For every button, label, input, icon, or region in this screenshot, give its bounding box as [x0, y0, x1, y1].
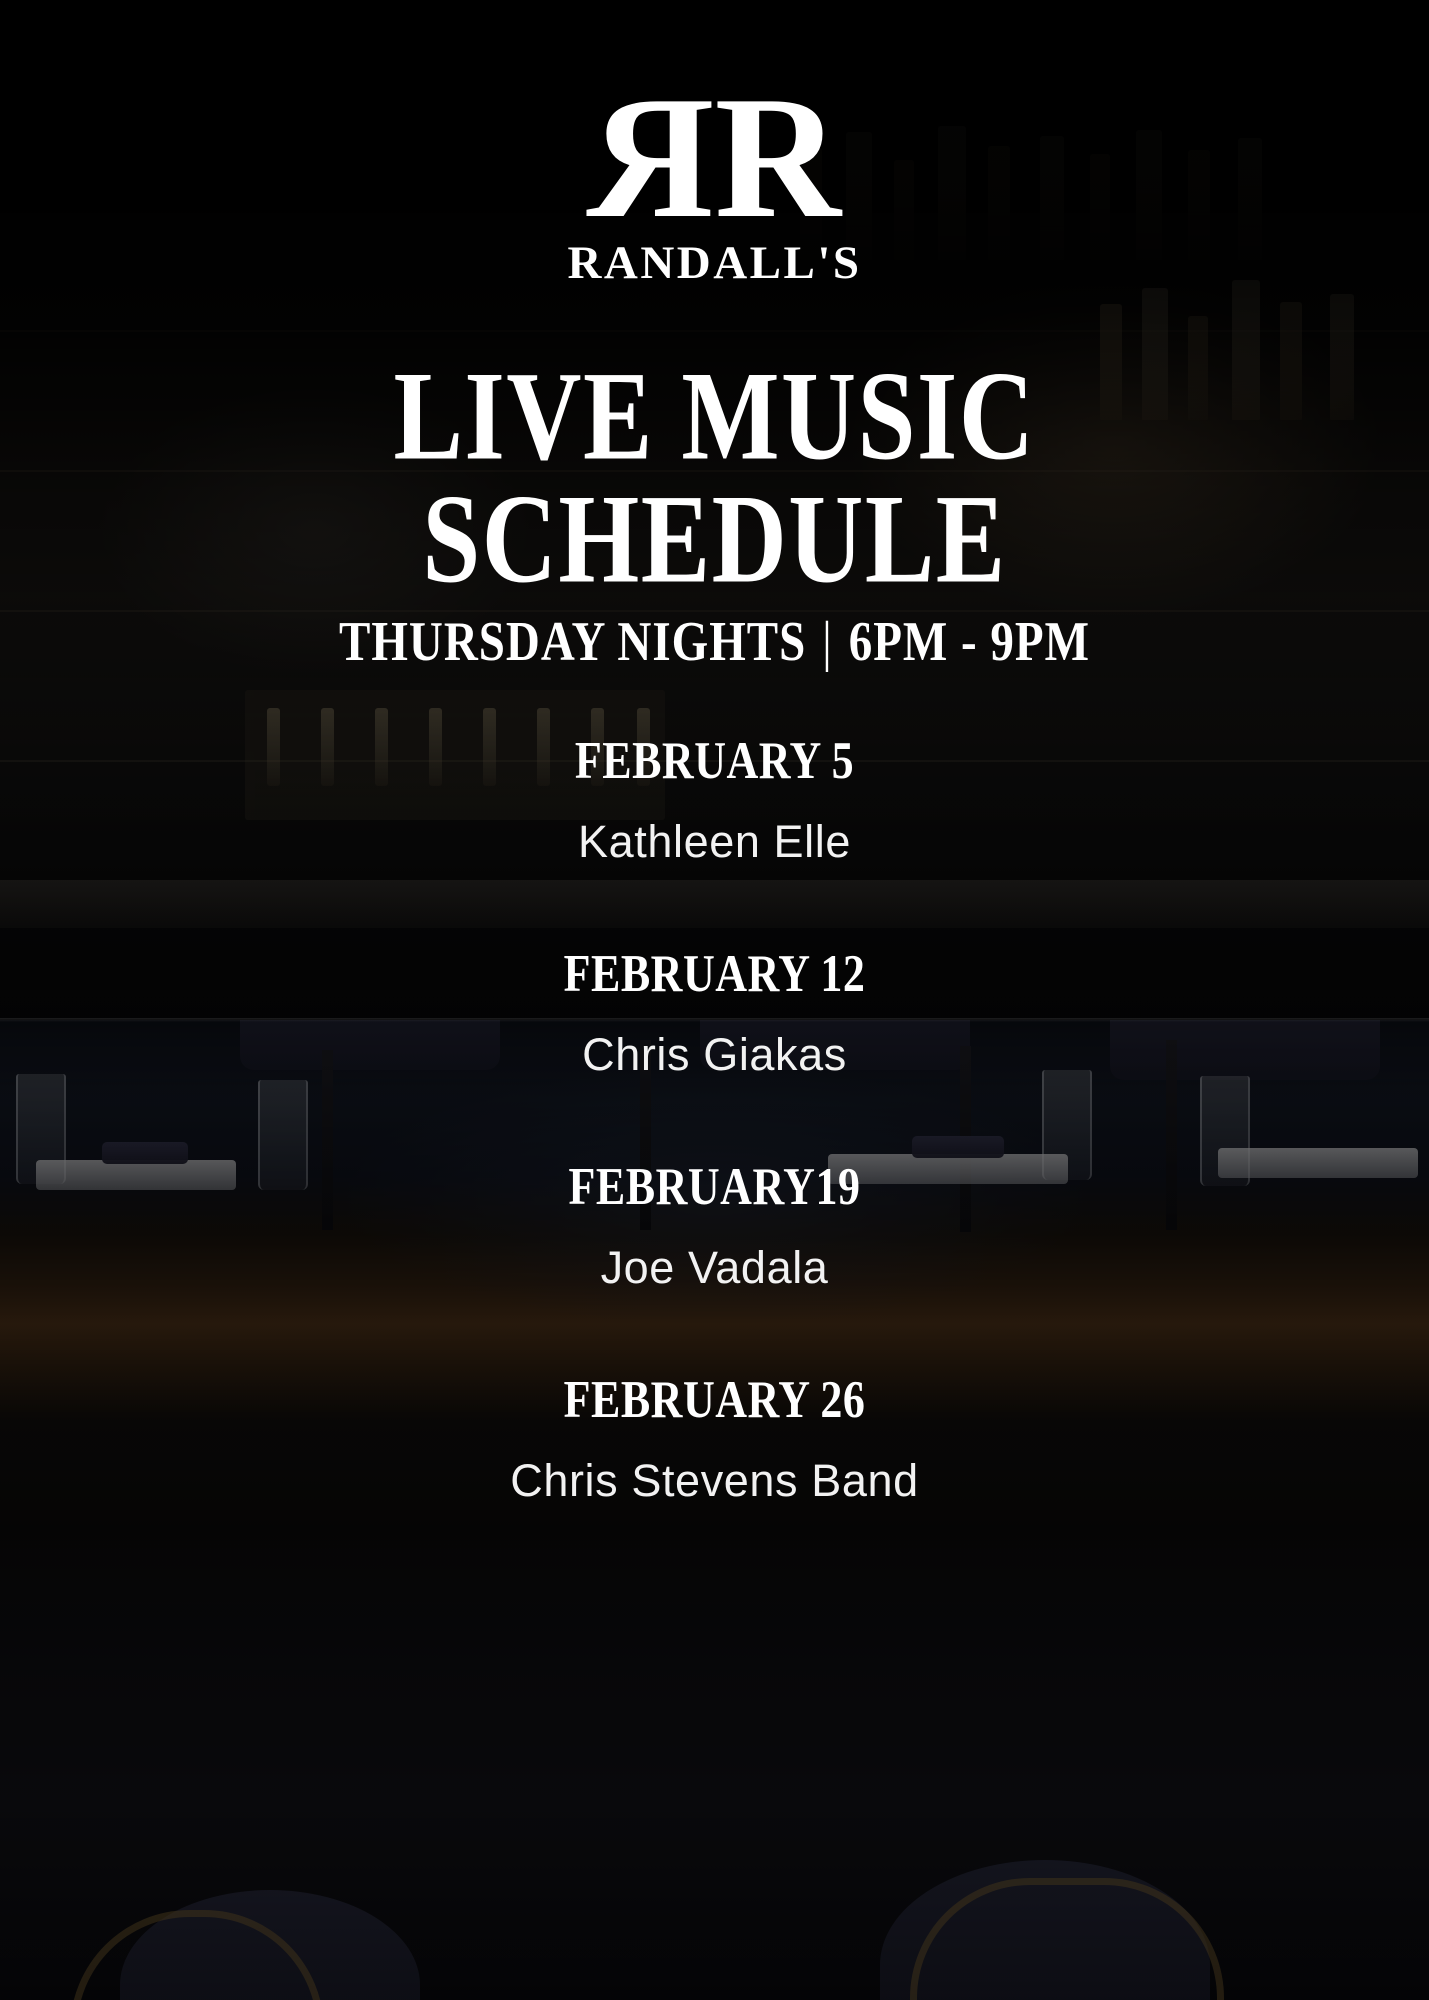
schedule-subtitle: THURSDAY NIGHTS|6PM - 9PM	[339, 610, 1090, 675]
subtitle-time: 6PM - 9PM	[849, 611, 1090, 673]
event-artist: Joe Vadala	[601, 1242, 829, 1294]
event-artist: Chris Stevens Band	[510, 1455, 919, 1507]
schedule-list: FEBRUARY 5 Kathleen Elle FEBRUARY 12 Chr…	[0, 735, 1429, 1507]
subtitle-days: THURSDAY NIGHTS	[339, 611, 806, 673]
event-date: FEBRUARY19	[569, 1156, 861, 1217]
brand-logo: RR RANDALL'S	[567, 86, 861, 290]
event-artist: Kathleen Elle	[578, 816, 851, 868]
event-date: FEBRUARY 26	[564, 1369, 866, 1430]
subtitle-separator: |	[806, 611, 848, 673]
event-date: FEBRUARY 12	[564, 943, 866, 1004]
monogram-rr-icon: RR	[600, 86, 829, 230]
headline-line-2: SCHEDULE	[394, 479, 1036, 602]
mirrored-r-glyph: R	[600, 86, 714, 230]
page-title: LIVE MUSIC SCHEDULE	[394, 356, 1036, 602]
r-glyph: R	[714, 86, 828, 230]
event-artist: Chris Giakas	[582, 1029, 847, 1081]
list-item: FEBRUARY 12 Chris Giakas	[0, 948, 1429, 1081]
list-item: FEBRUARY19 Joe Vadala	[0, 1161, 1429, 1294]
headline-line-1: LIVE MUSIC	[394, 356, 1036, 479]
live-music-schedule-poster: ЯR RR RANDALL'S LIVE MUSIC SCHEDULE THUR…	[0, 0, 1429, 2000]
event-date: FEBRUARY 5	[575, 730, 854, 791]
list-item: FEBRUARY 26 Chris Stevens Band	[0, 1374, 1429, 1507]
list-item: FEBRUARY 5 Kathleen Elle	[0, 735, 1429, 868]
